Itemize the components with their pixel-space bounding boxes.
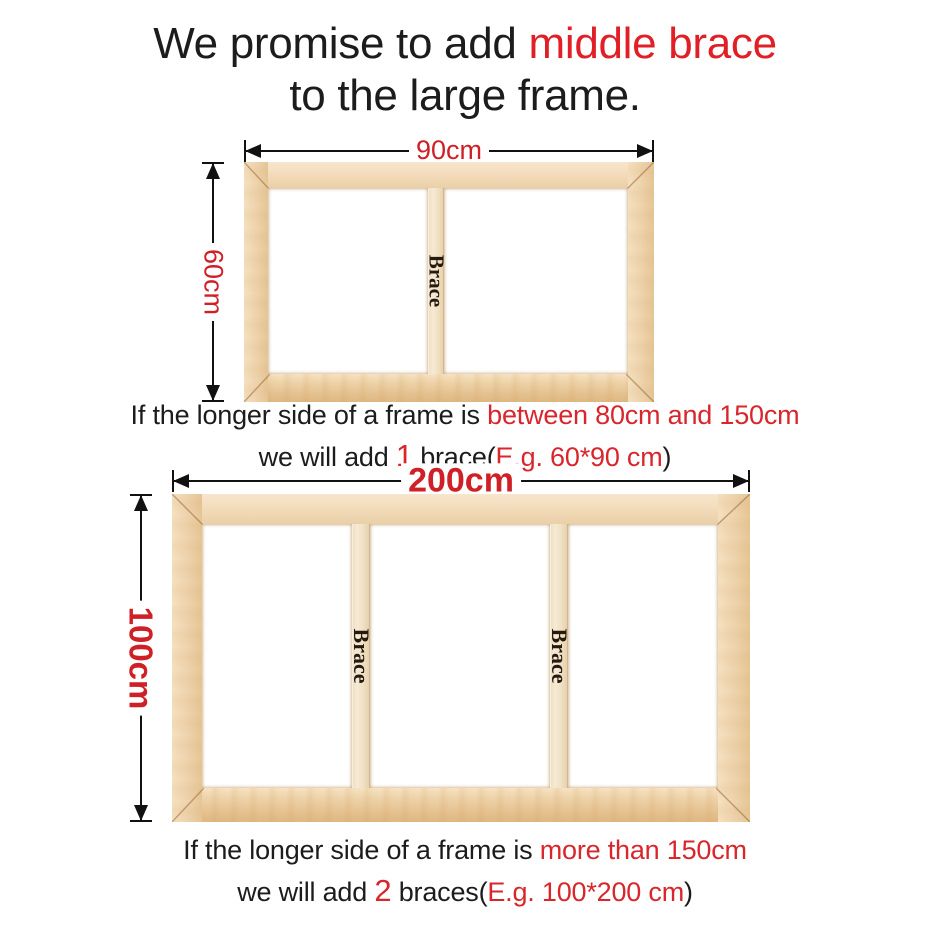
infographic-page: We promise to add middle brace to the la…	[0, 0, 930, 930]
frame-rail-top	[172, 494, 750, 524]
caption-text-black: If the longer side of a frame is	[183, 835, 540, 865]
brace-count: 2	[374, 873, 391, 908]
brace-2: Brace	[550, 524, 568, 788]
frame-opening-3	[568, 524, 718, 788]
brace-label: Brace	[348, 629, 374, 684]
dimension-width-label: 90cm	[409, 137, 489, 164]
frame-diagram-small: 90cm 60cm	[196, 140, 666, 402]
dimension-height-label: 60cm	[200, 243, 227, 321]
caption-text-red: more than 150cm	[540, 835, 747, 865]
dimension-width-label: 200cm	[401, 463, 521, 497]
arrow-up-icon	[206, 163, 220, 179]
brace-1: Brace	[352, 524, 370, 788]
frame-diagram-large: 200cm 100cm	[122, 470, 762, 822]
frame-rail-top	[244, 162, 654, 188]
frame-rail-right	[628, 162, 654, 402]
miter-joint-top-left	[172, 494, 204, 526]
caption-line2-b: braces(	[391, 877, 487, 907]
caption-line2: we will add 2 braces(E.g. 100*200 cm)	[0, 871, 930, 911]
frame-opening-1	[202, 524, 352, 788]
caption-text-red: between 80cm and 150cm	[487, 400, 799, 430]
arrow-left-icon	[245, 144, 261, 158]
frame-rail-left	[172, 494, 202, 822]
frame-opening-2	[370, 524, 550, 788]
caption-line2-c: )	[663, 442, 672, 472]
dimension-height-label: 100cm	[125, 601, 158, 716]
miter-joint-top-right	[626, 162, 654, 190]
headline-highlight: middle brace	[529, 19, 777, 68]
brace-label: Brace	[546, 629, 572, 684]
caption-example: E.g. 100*200 cm	[487, 877, 684, 907]
headline-line2: to the large frame.	[0, 70, 930, 122]
brace-1: Brace	[428, 188, 444, 374]
dimension-width-large: 200cm	[172, 470, 750, 492]
dimension-width-small: 90cm	[244, 140, 654, 162]
arrow-left-icon	[173, 474, 189, 488]
caption-line2-a: we will add	[259, 442, 396, 472]
headline-text-part1: We promise to add	[153, 19, 528, 68]
caption-text-black: If the longer side of a frame is	[131, 400, 488, 430]
caption-line2-c: )	[684, 877, 693, 907]
frame-rail-right	[718, 494, 750, 822]
miter-joint-top-right	[716, 494, 750, 526]
arrow-right-icon	[733, 474, 749, 488]
wooden-frame-large: Brace Brace	[172, 494, 750, 822]
wooden-frame-small: Brace	[244, 162, 654, 402]
caption-large-frame: If the longer side of a frame is more th…	[0, 833, 930, 911]
dimension-height-small: 60cm	[202, 162, 224, 402]
miter-joint-top-left	[244, 162, 270, 190]
frame-opening-left	[268, 188, 428, 374]
dimension-height-large: 100cm	[130, 494, 152, 822]
miter-joint-bottom-left	[172, 788, 204, 822]
arrow-right-icon	[637, 144, 653, 158]
caption-line2-a: we will add	[237, 877, 374, 907]
page-title: We promise to add middle brace to the la…	[0, 18, 930, 122]
frame-rail-left	[244, 162, 268, 402]
arrow-up-icon	[134, 495, 148, 511]
miter-joint-bottom-right	[716, 788, 750, 822]
arrow-down-icon	[134, 805, 148, 821]
brace-label: Brace	[424, 255, 449, 307]
frame-rail-bottom	[172, 788, 750, 822]
frame-opening-right	[444, 188, 628, 374]
